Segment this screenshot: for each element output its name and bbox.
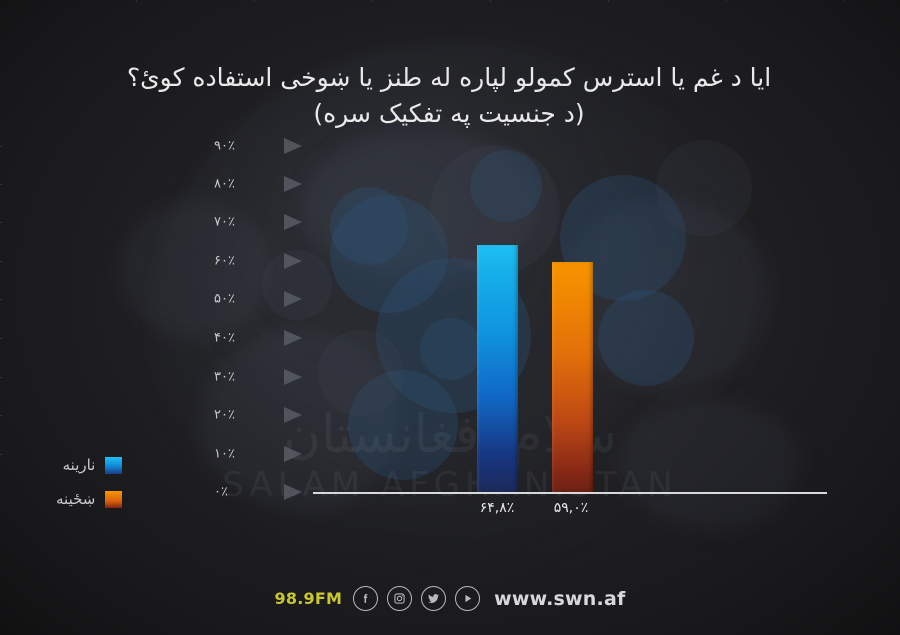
y-axis-tick-label: ۰٪ [214,485,276,500]
instagram-icon[interactable] [387,586,412,611]
facebook-icon[interactable] [353,586,378,611]
legend-label-male: نارینه [63,456,96,474]
twitter-icon[interactable] [421,586,446,611]
legend-item-female[interactable]: ښځینه [56,482,122,516]
infographic-canvas: سلام افغانستان SALAM AFGHANISTAN ایا د غ… [0,0,900,635]
y-axis-tick-label: ۳۰٪ [214,370,276,385]
radio-frequency-label: 98.9FM [275,589,343,608]
tick-arrow-icon [284,484,302,500]
bar-female [552,262,593,492]
bar-value-female: ۵۹,۰٪ [516,500,626,516]
legend-item-male[interactable]: نارینه [56,448,122,482]
tick-arrow-icon [284,176,302,192]
tick-arrow-icon [284,291,302,307]
legend: نارینه ښځینه [56,448,122,516]
y-axis-tick-label: ۴۰٪ [214,331,276,346]
youtube-icon[interactable] [455,586,480,611]
y-axis-tick-label: ۶۰٪ [214,254,276,269]
legend-swatch-female [105,491,122,508]
legend-label-female: ښځینه [56,490,95,508]
footer-bar: 98.9FM www.swn.af [0,586,900,611]
tick-arrow-icon [284,253,302,269]
legend-swatch-male [105,457,122,474]
y-axis-tick-label: ۵۰٪ [214,292,276,307]
y-axis-tick-label: ۹۰٪ [214,139,276,154]
bar-male [477,245,518,492]
tick-arrow-icon [284,369,302,385]
y-axis-tick-label: ۸۰٪ [214,177,276,192]
y-axis-tick-label: ۲۰٪ [214,408,276,423]
y-axis-tick-label: ۱۰٪ [214,447,276,462]
tick-arrow-icon [284,330,302,346]
tick-arrow-icon [284,138,302,154]
tick-arrow-icon [284,446,302,462]
tick-arrow-icon [284,214,302,230]
tick-arrow-icon [284,407,302,423]
y-axis-tick-label: ۷۰٪ [214,215,276,230]
axis-baseline [313,492,827,494]
plot-area: ۹۰٪ ۸۰٪ ۷۰٪ ۶۰٪ ۵۰٪ ۴۰٪ ۳۰٪ ۲۰٪ ۱۰٪ ۰٪ ۶… [0,0,900,635]
website-url[interactable]: www.swn.af [494,588,625,610]
